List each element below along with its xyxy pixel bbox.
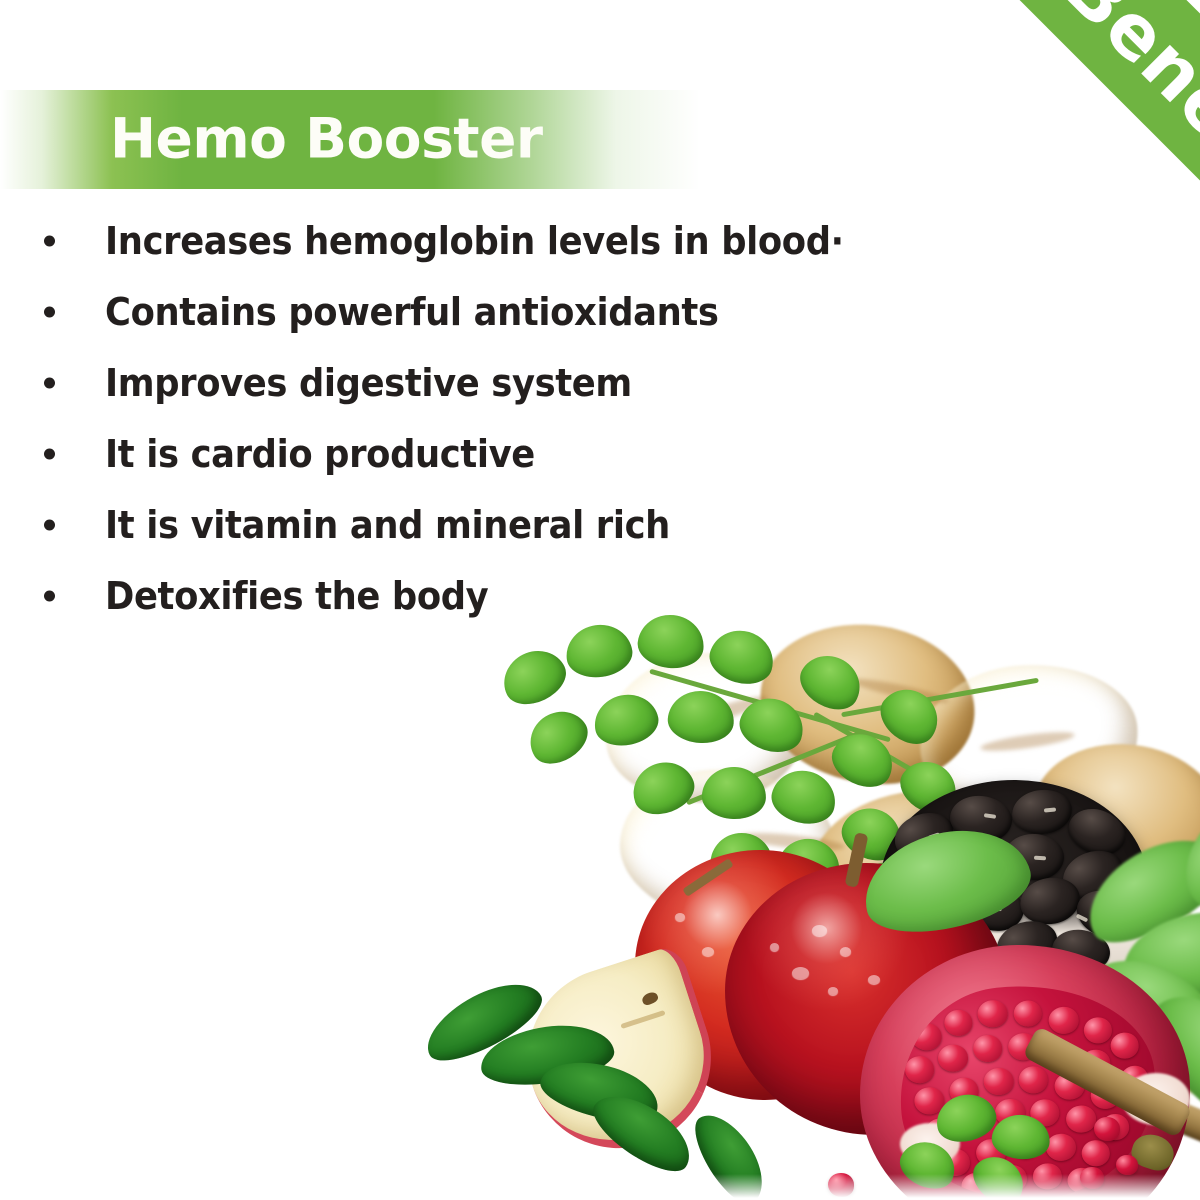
list-item: It is vitamin and mineral rich xyxy=(0,489,1030,560)
pomegranate-aril xyxy=(976,999,1009,1029)
bullet-icon xyxy=(44,448,55,459)
bullet-icon xyxy=(44,377,55,388)
bullet-icon xyxy=(44,235,55,246)
pomegranate-aril xyxy=(1083,1016,1114,1045)
benefit-text: Improves digestive system xyxy=(105,361,632,405)
pomegranate-aril xyxy=(1032,1162,1064,1191)
water-droplet xyxy=(812,925,827,936)
pomegranate-aril xyxy=(943,1009,974,1038)
pomegranate-aril xyxy=(982,1067,1015,1097)
water-droplet xyxy=(868,975,880,984)
benefit-text: Increases hemoglobin levels in blood· xyxy=(105,219,844,263)
water-droplet xyxy=(840,947,851,956)
bullet-icon xyxy=(44,590,55,601)
list-item: Contains powerful antioxidants xyxy=(0,276,1030,347)
pomegranate-aril xyxy=(972,1034,1004,1064)
pomegranate-aril xyxy=(910,1022,943,1052)
pomegranate-aril xyxy=(1017,1065,1049,1095)
list-item: Detoxifies the body xyxy=(0,560,1030,631)
benefit-text: Contains powerful antioxidants xyxy=(105,290,719,334)
ingredient-photo xyxy=(380,595,1200,1200)
list-item: Increases hemoglobin levels in blood· xyxy=(0,205,1030,276)
pomegranate-aril xyxy=(1080,1167,1104,1189)
pomegranate-aril xyxy=(904,1055,936,1085)
title-banner: Hemo Booster xyxy=(0,90,700,189)
water-droplet xyxy=(770,943,779,951)
water-droplet xyxy=(792,967,809,979)
pomegranate-aril xyxy=(1012,999,1043,1028)
benefit-text: It is vitamin and mineral rich xyxy=(105,503,670,547)
bullet-icon xyxy=(44,306,55,317)
benefit-text: Detoxifies the body xyxy=(105,574,488,618)
benefits-list: Increases hemoglobin levels in blood· Co… xyxy=(0,205,1030,631)
water-droplet xyxy=(702,947,714,956)
ribbon-label: Benefits xyxy=(1047,0,1200,256)
bean-hilum xyxy=(1034,856,1046,861)
pomegranate-aril xyxy=(937,1043,970,1073)
pomegranate-aril xyxy=(1080,1139,1111,1168)
pomegranate-aril xyxy=(1045,1132,1078,1162)
pomegranate-aril xyxy=(1047,1005,1080,1035)
pomegranate-aril xyxy=(1065,1104,1098,1134)
pomegranate-aril xyxy=(1116,1155,1138,1175)
water-droplet xyxy=(828,987,838,995)
list-item: Improves digestive system xyxy=(0,347,1030,418)
pomegranate-aril xyxy=(1094,1117,1120,1141)
bullet-icon xyxy=(44,519,55,530)
pomegranate-aril xyxy=(1109,1031,1140,1060)
pomegranate-aril xyxy=(828,1173,854,1197)
page-title: Hemo Booster xyxy=(110,106,543,170)
water-droplet xyxy=(675,913,685,921)
benefit-text: It is cardio productive xyxy=(105,432,535,476)
list-item: It is cardio productive xyxy=(0,418,1030,489)
green-leaf xyxy=(684,1103,776,1200)
poster-canvas: Hemo Booster Increases hemoglobin levels… xyxy=(0,0,1200,1200)
moringa-leaflet xyxy=(494,641,573,714)
moringa-leaflet xyxy=(520,701,596,774)
